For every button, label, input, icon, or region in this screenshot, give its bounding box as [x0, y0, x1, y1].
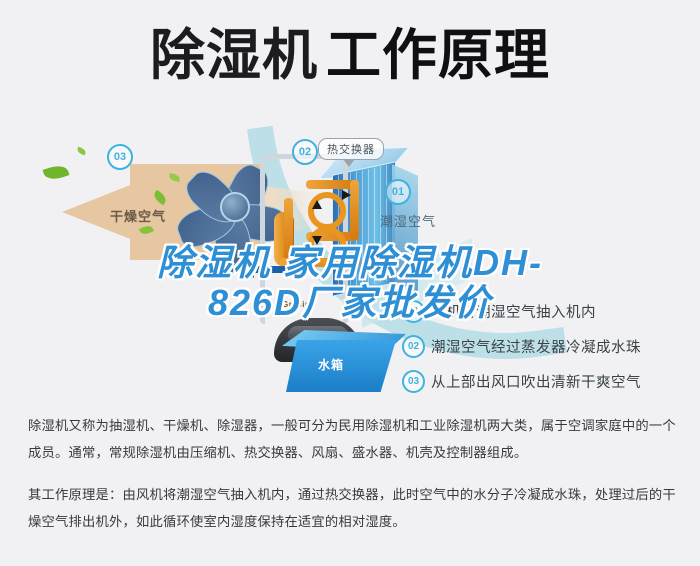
badge-02: 02	[292, 139, 318, 165]
badge-03: 03	[107, 144, 133, 170]
page-title: 除湿机工作原理	[0, 28, 700, 83]
copper-coil-ring	[308, 226, 346, 264]
list-item: 02 潮湿空气经过蒸发器冷凝成水珠	[402, 335, 692, 358]
flow-arrow-up-icon	[312, 200, 322, 209]
flow-arrow-right-icon	[342, 190, 351, 200]
copper-coil-ring	[308, 192, 346, 230]
list-item: 03 从上部出风口吹出清新干爽空气	[402, 370, 692, 393]
principle-step-list: 01 风机将潮湿空气抽入机内 02 潮湿空气经过蒸发器冷凝成水珠 03 从上部出…	[402, 300, 692, 400]
moist-air-label: 潮湿空气	[380, 211, 436, 230]
water-tank-label: 水箱	[318, 356, 344, 373]
list-item: 01 风机将潮湿空气抽入机内	[402, 300, 692, 323]
dry-air-label: 干燥空气	[110, 206, 166, 225]
heat-exchanger-callout: 热交换器	[318, 138, 384, 160]
step-text: 风机将潮湿空气抽入机内	[431, 301, 596, 322]
page-title-part1: 除湿机	[150, 24, 318, 86]
leaf-icon	[43, 163, 70, 183]
step-text: 潮湿空气经过蒸发器冷凝成水珠	[431, 336, 641, 357]
badge-01: 01	[385, 179, 411, 205]
poster-page: 除湿机工作原理 干燥空气	[0, 0, 700, 566]
flow-arrow-down-icon	[312, 236, 322, 245]
step-text: 从上部出风口吹出清新干爽空气	[431, 371, 641, 392]
step-badge: 03	[402, 370, 425, 393]
step-badge: 01	[402, 300, 425, 323]
page-title-part2: 工作原理	[326, 24, 550, 86]
air-intake-arrow-bar	[252, 266, 286, 273]
description-paragraph-2: 其工作原理是：由风机将潮湿空气抽入机内，通过热交换器，此时空气中的水分子冷凝成水…	[28, 481, 676, 536]
step-badge: 02	[402, 335, 425, 358]
copper-pipe	[284, 198, 293, 262]
description-paragraph-1: 除湿机又称为抽湿机、干燥机、除湿器，一般可分为民用除湿机和工业除湿机两大类，属于…	[28, 412, 676, 467]
leaf-icon	[76, 147, 87, 156]
copper-pipe	[350, 180, 359, 240]
principle-diagram: 干燥空气	[0, 118, 700, 400]
compressor-brand-label: Gresin	[282, 300, 310, 309]
description-section: 除湿机又称为抽湿机、干燥机、除湿器，一般可分为民用除湿机和工业除湿机两大类，属于…	[28, 412, 676, 535]
